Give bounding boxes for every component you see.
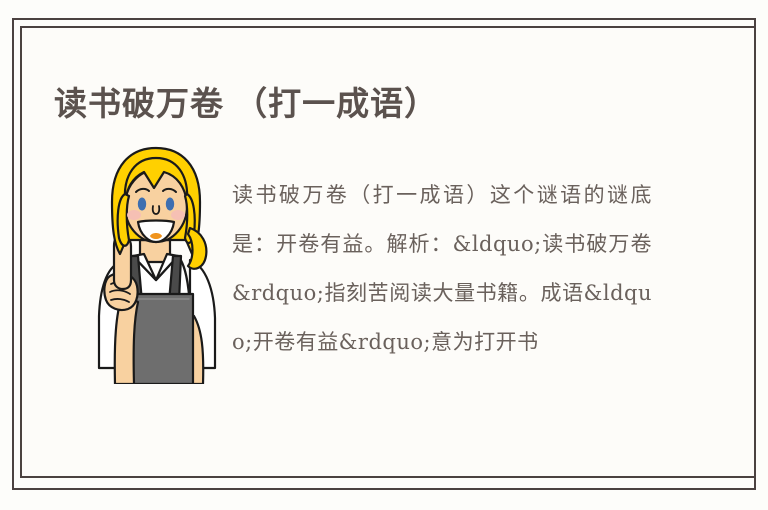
page-title: 读书破万卷 （打一成语）	[54, 84, 714, 124]
cheek-left	[127, 210, 141, 220]
eye-right	[166, 198, 174, 211]
article-content-area: 读书破万卷 （打一成语）	[20, 26, 756, 478]
hair-lock-left	[118, 194, 129, 246]
cheek-right	[171, 210, 185, 220]
eye-left	[138, 198, 146, 211]
cartoon-girl-pointing-up-icon	[86, 144, 226, 384]
article-body-text: 读书破万卷（打一成语）这个谜语的谜底是：开卷有益。解析：&ldquo;读书破万卷…	[232, 171, 652, 367]
